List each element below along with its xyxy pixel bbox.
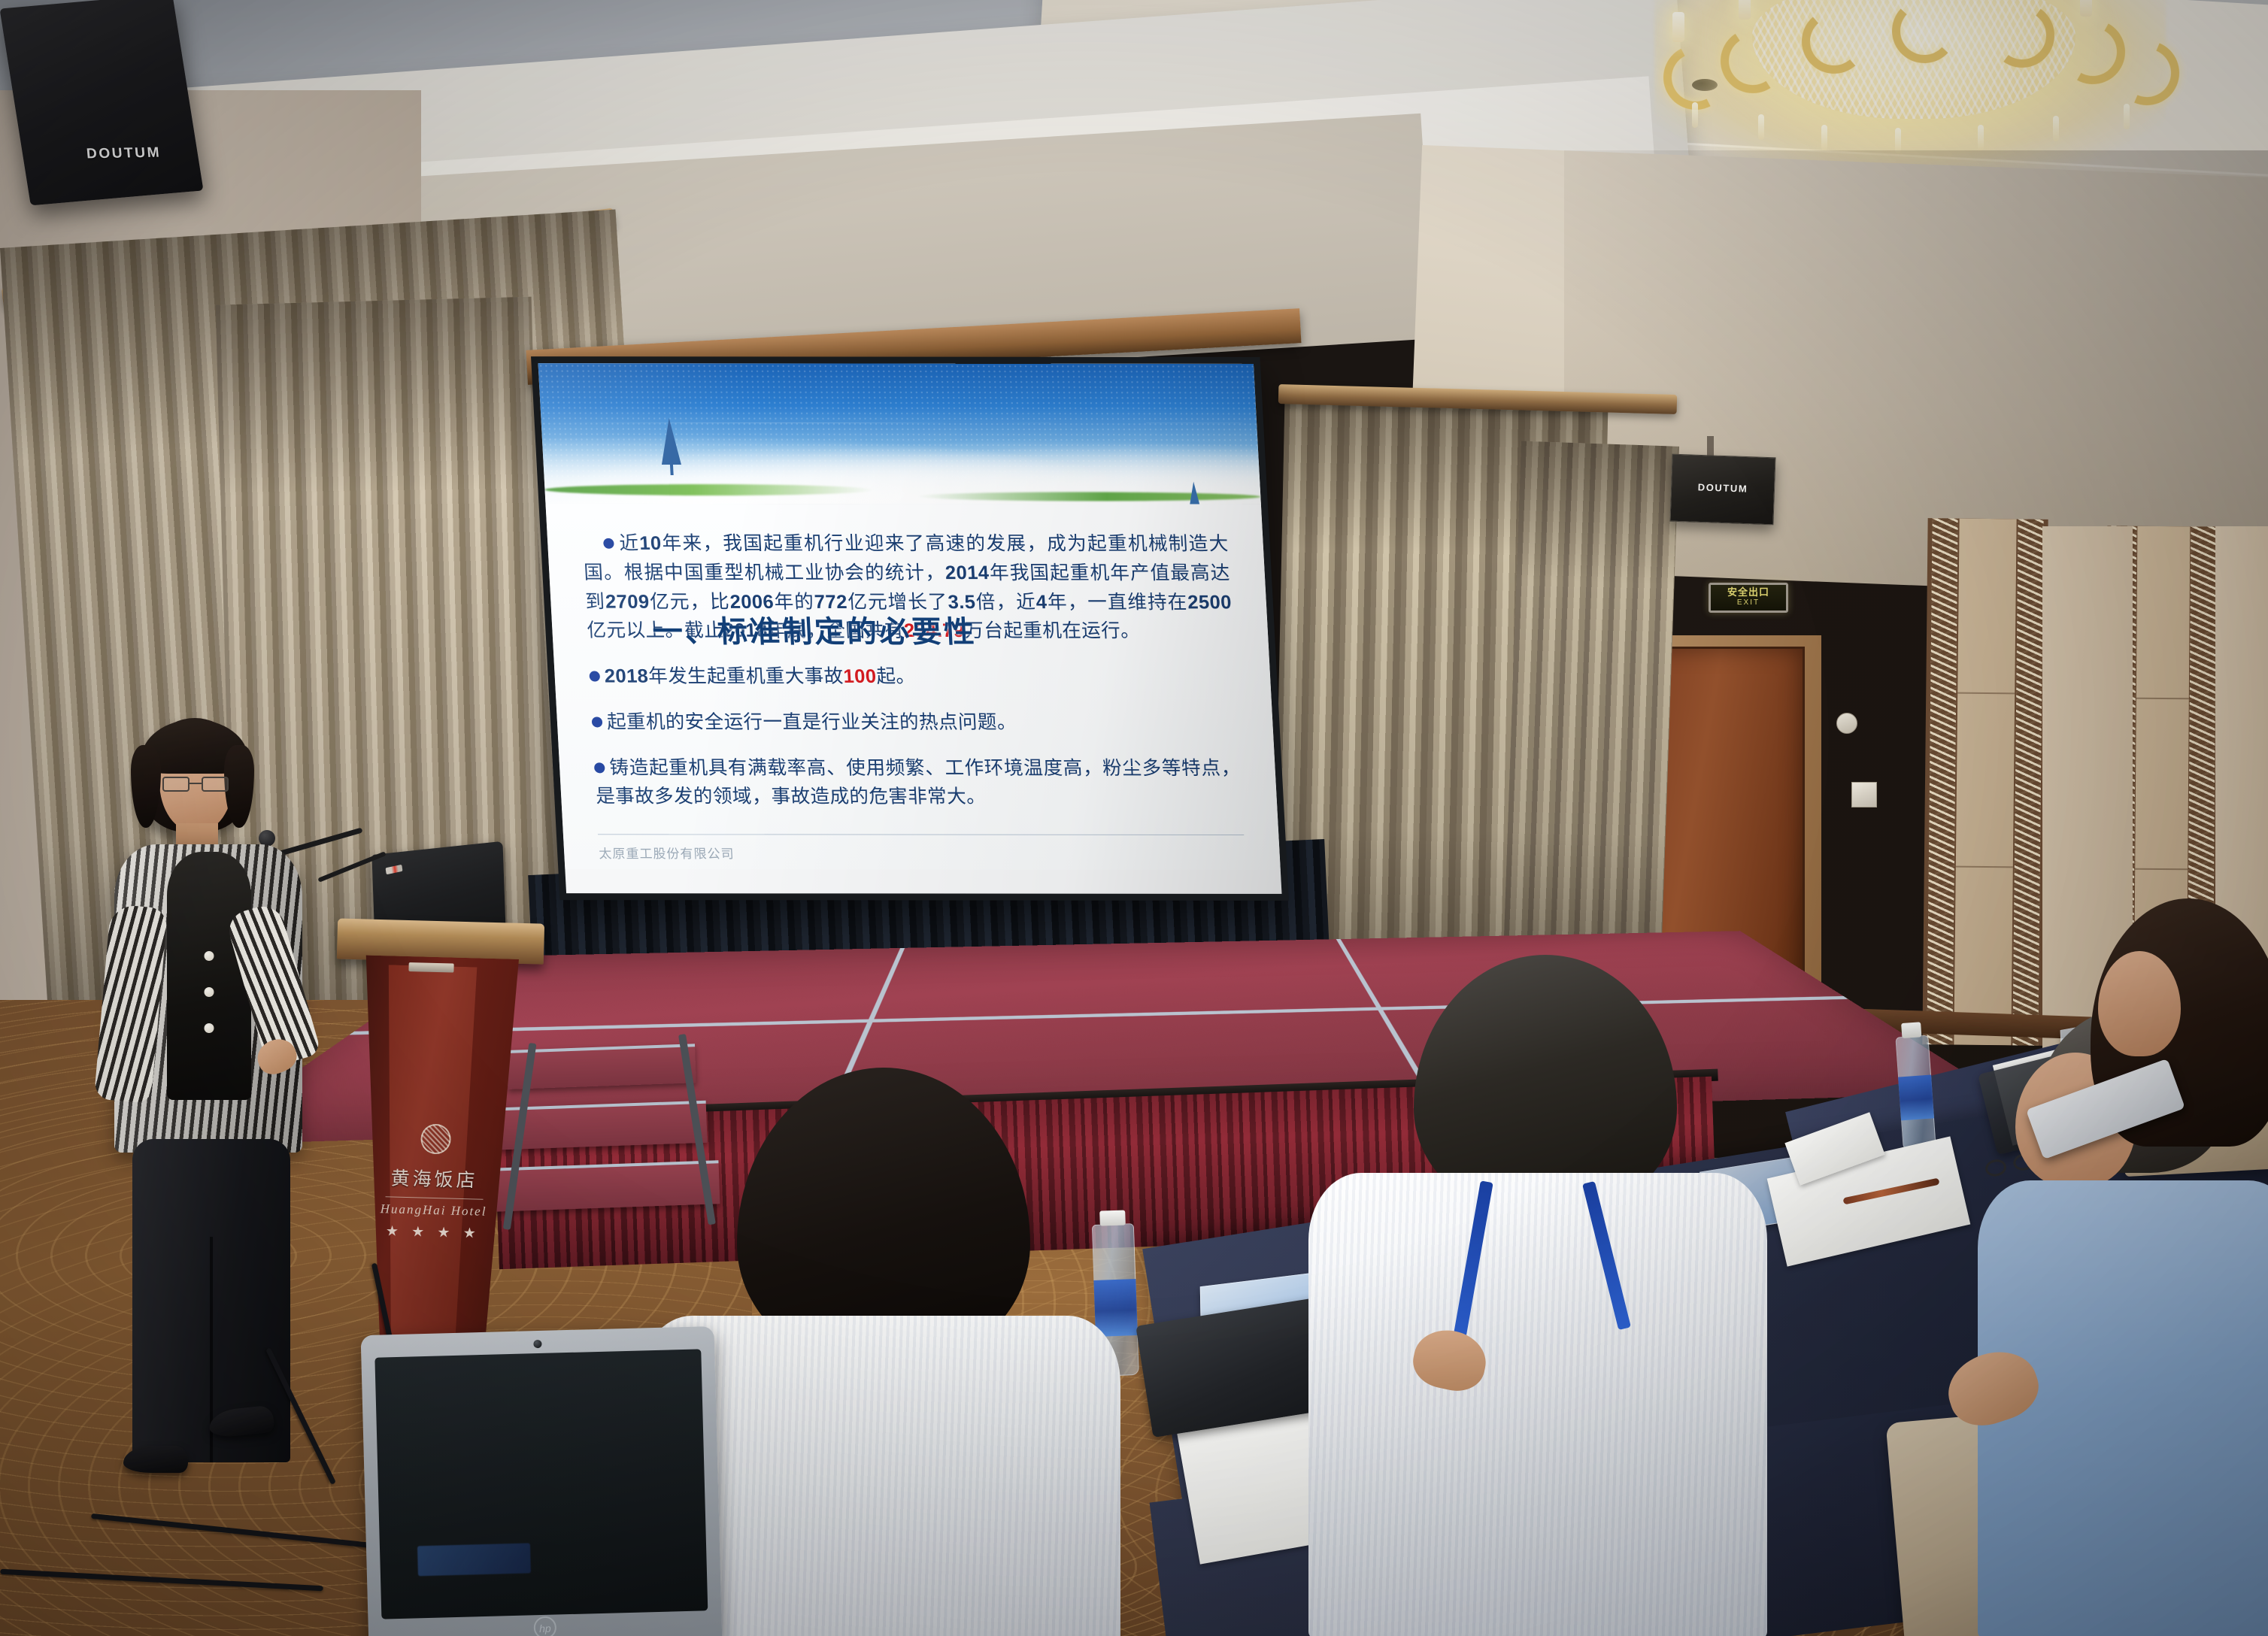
carved-leaf-strip — [1927, 518, 1957, 1044]
chandelier-drop — [1758, 114, 1764, 140]
slide-bullet-2: 2018年发生起重机重大事故100起。 — [589, 662, 1236, 692]
chandelier-drop — [1821, 125, 1827, 150]
hotel-logo: 黄海饭店 HuangHai Hotel ★ ★ ★ ★ — [365, 1122, 504, 1244]
slide-title: 一、标准制定的必要性 — [651, 607, 978, 650]
laptop-sticker — [417, 1543, 531, 1576]
speaker-brand-label: DOUTUM — [1697, 482, 1748, 495]
glasses-lens — [202, 777, 229, 792]
presenter-black-top — [167, 852, 251, 1100]
bullet-dot-icon — [592, 717, 603, 727]
attendee-shirt — [1308, 1173, 1767, 1636]
chandelier-candle — [1739, 0, 1751, 20]
slide-bullet-3: 起重机的安全运行一直是行业关注的热点问题。 — [591, 707, 1239, 737]
exit-sign-label-en: EXIT — [1737, 597, 1760, 608]
laptop-logo-icon — [386, 865, 403, 874]
chandelier-drop — [1692, 102, 1698, 128]
logo-divider — [385, 1196, 483, 1199]
chandelier-candle — [2080, 0, 2092, 17]
presenter-glasses-icon — [162, 777, 232, 793]
presenter-shoe — [123, 1446, 188, 1473]
bullet-dot-icon — [589, 671, 600, 682]
chandelier-candle — [1672, 12, 1684, 42]
exit-sign: 安全出口 EXIT — [1709, 583, 1788, 613]
curtain-shading — [1502, 441, 1679, 1003]
chandelier-drop — [2124, 104, 2130, 129]
blouse-button — [205, 1023, 214, 1033]
attendee-lanyard — [1301, 955, 1767, 1636]
glasses-lens — [162, 777, 190, 792]
light-switch[interactable] — [1851, 782, 1877, 807]
foreground-laptop[interactable]: hp — [361, 1326, 723, 1636]
chandelier-drop — [1978, 125, 1984, 150]
bullet-4-text: 铸造起重机具有满载率高、使用频繁、工作环境温度高，粉尘多等特点，是事故多发的领域… — [596, 756, 1242, 807]
blouse-button — [205, 951, 214, 961]
podium-plaque — [408, 962, 453, 973]
slide-tree-icon — [659, 418, 681, 465]
bullet-dot-icon — [594, 762, 605, 773]
slide-header-grass-left — [544, 484, 874, 495]
slide-footer-company: 太原重工股份有限公司 — [599, 843, 735, 862]
shirt-stripe-texture — [1308, 1173, 1767, 1636]
hotel-name-en: HuangHai Hotel — [365, 1201, 501, 1220]
bullet-3-text: 起重机的安全运行一直是行业关注的热点问题。 — [606, 710, 1017, 732]
decorative-wall-panel — [1922, 518, 2048, 1046]
attendee-hair — [1414, 955, 1677, 1210]
panel-center — [1954, 519, 2016, 1046]
hotel-emblem-icon — [420, 1124, 451, 1155]
slide-divider-rule — [598, 834, 1244, 835]
chandelier-drop — [2053, 116, 2059, 141]
attendee-long-hair — [2075, 898, 2268, 1214]
blouse-button — [205, 987, 214, 997]
slide-tree-icon — [1184, 482, 1205, 504]
presenter — [98, 718, 346, 1545]
speaker-brand-label: DOUTUM — [86, 145, 162, 163]
slide-body: 近10年来，我国起重机行业迎来了高速的发展，成为起重机械制造大国。根据中国重型机… — [545, 504, 1280, 870]
bottle-label — [1898, 1075, 1934, 1121]
slide-bullet-4: 铸造起重机具有满载率高、使用频繁、工作环境温度高，粉尘多等特点，是事故多发的领域… — [593, 753, 1242, 812]
presentation-slide: 一、标准制定的必要性 近10年来，我国起重机行业迎来了高速的发展，成为起重机械制… — [538, 363, 1282, 894]
laptop-screen[interactable] — [374, 1349, 708, 1619]
conference-room-scene: 安全出口 EXIT DOUTUM DOUTUM — [0, 0, 2268, 1636]
chandelier-drop — [1895, 128, 1901, 153]
bullet-dot-icon — [603, 538, 614, 549]
ceiling-speaker-right: DOUTUM — [1669, 454, 1775, 526]
curtain-right-far — [1502, 441, 1679, 1003]
hotel-star-rating: ★ ★ ★ ★ — [365, 1222, 502, 1244]
hotel-name-cn: 黄海饭店 — [366, 1163, 502, 1194]
bottle-cap — [1901, 1022, 1922, 1038]
glasses-bridge — [190, 783, 202, 784]
thermostat-icon[interactable] — [1836, 713, 1857, 734]
exit-sign-label-cn: 安全出口 — [1727, 587, 1769, 597]
slide-header-banner — [538, 363, 1261, 504]
projection-screen: 一、标准制定的必要性 近10年来，我国起重机行业迎来了高速的发展，成为起重机械制… — [531, 356, 1289, 901]
hp-logo-icon: hp — [533, 1616, 556, 1636]
ceiling-speaker-left: DOUTUM — [0, 0, 204, 205]
bullet-2-text: 2018年发生起重机重大事故100起。 — [604, 665, 916, 687]
carved-leaf-strip — [2012, 519, 2043, 1045]
